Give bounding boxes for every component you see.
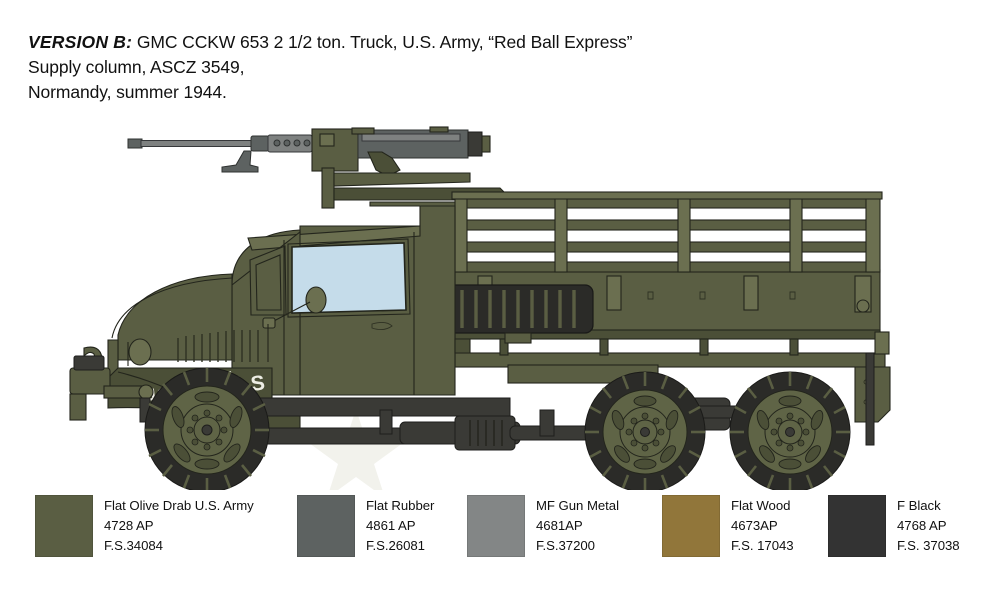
jacket-hole bbox=[274, 140, 280, 146]
bed-stake bbox=[790, 195, 802, 272]
transfer-case-body bbox=[455, 416, 515, 450]
frame-hanger bbox=[380, 410, 392, 434]
color-name: Flat Wood bbox=[731, 496, 794, 516]
bed-crossmember bbox=[790, 339, 798, 355]
color-label-block: F Black 4768 AP F.S. 37038 bbox=[897, 495, 960, 557]
version-label: VERSION B: bbox=[28, 32, 132, 52]
jacket-hole bbox=[294, 140, 300, 146]
mirror-bracket bbox=[263, 318, 275, 328]
rear-support-post bbox=[866, 353, 874, 445]
headlight bbox=[129, 339, 151, 365]
bed-stake-rear bbox=[866, 195, 880, 272]
front-hub-center bbox=[202, 425, 212, 435]
rear-wheel-rear bbox=[730, 372, 850, 490]
gun-cradle-yoke bbox=[222, 151, 258, 172]
gun-barrel bbox=[141, 141, 251, 147]
gun-sight-block bbox=[352, 128, 374, 134]
color-fs: F.S. 37038 bbox=[897, 536, 960, 556]
legend-swatch-4: F Black 4768 AP F.S. 37038 bbox=[828, 495, 960, 557]
receiver-top-rail bbox=[362, 134, 460, 141]
gun-rear-sight bbox=[430, 127, 448, 132]
stake-pocket bbox=[607, 276, 621, 310]
rear-hub-center-1 bbox=[641, 428, 650, 437]
bed-front-bracket bbox=[455, 339, 470, 353]
bed-slat bbox=[455, 220, 880, 230]
spare-tire-carrier bbox=[505, 333, 531, 343]
spare-tire-body bbox=[448, 285, 593, 333]
color-code: 4673AP bbox=[731, 516, 794, 536]
bed-slat bbox=[455, 262, 880, 272]
gun-barrel-collar bbox=[251, 136, 269, 151]
caption-block: VERSION B: GMC CCKW 653 2 1/2 ton. Truck… bbox=[28, 30, 888, 105]
color-code: 4681AP bbox=[536, 516, 619, 536]
caption-line-1: VERSION B: GMC CCKW 653 2 1/2 ton. Truck… bbox=[28, 30, 888, 55]
frame-hanger bbox=[540, 410, 554, 436]
color-fs: F.S.37200 bbox=[536, 536, 619, 556]
legend-swatch-2: MF Gun Metal 4681AP F.S.37200 bbox=[467, 495, 619, 557]
gun-buffer bbox=[482, 136, 490, 152]
side-mirror bbox=[306, 287, 326, 313]
legend-swatch-3: Flat Wood 4673AP F.S. 17043 bbox=[662, 495, 794, 557]
front-wheel bbox=[145, 368, 269, 490]
color-chip bbox=[297, 495, 355, 557]
legend-swatch-1: Flat Rubber 4861 AP F.S.26081 bbox=[297, 495, 434, 557]
color-chip bbox=[35, 495, 93, 557]
color-code: 4861 AP bbox=[366, 516, 434, 536]
receiver-detail bbox=[320, 134, 334, 146]
color-label-block: Flat Wood 4673AP F.S. 17043 bbox=[731, 495, 794, 557]
truck-side-view-svg: .od { fill:#5A5E43; stroke:#23251C; stro… bbox=[0, 110, 1000, 490]
color-code: 4768 AP bbox=[897, 516, 960, 536]
caption-line-1-text: GMC CCKW 653 2 1/2 ton. Truck, U.S. Army… bbox=[132, 32, 632, 52]
bed-stake bbox=[555, 195, 567, 272]
color-chip bbox=[662, 495, 720, 557]
bed-crossmember bbox=[700, 339, 708, 355]
color-chip bbox=[467, 495, 525, 557]
gun-receiver-front bbox=[312, 129, 358, 171]
color-fs: F.S. 17043 bbox=[731, 536, 794, 556]
bumper-upright bbox=[70, 394, 86, 420]
color-fs: F.S.34084 bbox=[104, 536, 254, 556]
bed-crossmember bbox=[600, 339, 608, 355]
bed-stake bbox=[678, 195, 690, 272]
paint-color-legend: Flat Olive Drab U.S. Army 4728 AP F.S.34… bbox=[0, 495, 1000, 567]
caption-line-2: Supply column, ASCZ 3549, bbox=[28, 55, 888, 80]
caption-line-3: Normandy, summer 1944. bbox=[28, 80, 888, 105]
color-label-block: Flat Olive Drab U.S. Army 4728 AP F.S.34… bbox=[104, 495, 254, 557]
ring-mount-arm-upper bbox=[334, 173, 470, 186]
vent-window-inner bbox=[256, 255, 281, 310]
stake-pocket bbox=[744, 276, 758, 310]
bumper-shackle bbox=[139, 385, 153, 399]
bed-stake-front bbox=[455, 195, 467, 272]
color-code: 4728 AP bbox=[104, 516, 254, 536]
gun-muzzle bbox=[128, 139, 142, 148]
rear-wheel-front bbox=[585, 372, 705, 490]
color-label-block: MF Gun Metal 4681AP F.S.37200 bbox=[536, 495, 619, 557]
vehicle-illustration: .od { fill:#5A5E43; stroke:#23251C; stro… bbox=[0, 110, 1000, 490]
color-name: Flat Olive Drab U.S. Army bbox=[104, 496, 254, 516]
legend-swatch-0: Flat Olive Drab U.S. Army 4728 AP F.S.34… bbox=[35, 495, 254, 557]
color-label-block: Flat Rubber 4861 AP F.S.26081 bbox=[366, 495, 434, 557]
color-name: MF Gun Metal bbox=[536, 496, 619, 516]
bed-rear-fitting bbox=[857, 300, 869, 312]
rear-bracket bbox=[875, 332, 889, 354]
bumper-bracket bbox=[74, 356, 104, 370]
color-chip bbox=[828, 495, 886, 557]
color-fs: F.S.26081 bbox=[366, 536, 434, 556]
color-name: F Black bbox=[897, 496, 960, 516]
gun-backplate bbox=[468, 132, 482, 156]
jacket-hole bbox=[284, 140, 290, 146]
bed-top-rail bbox=[452, 192, 882, 199]
color-name: Flat Rubber bbox=[366, 496, 434, 516]
jacket-hole bbox=[304, 140, 310, 146]
rear-hub-center-2 bbox=[786, 428, 795, 437]
gun-mount-post bbox=[322, 168, 334, 208]
bed-slat bbox=[455, 242, 880, 252]
